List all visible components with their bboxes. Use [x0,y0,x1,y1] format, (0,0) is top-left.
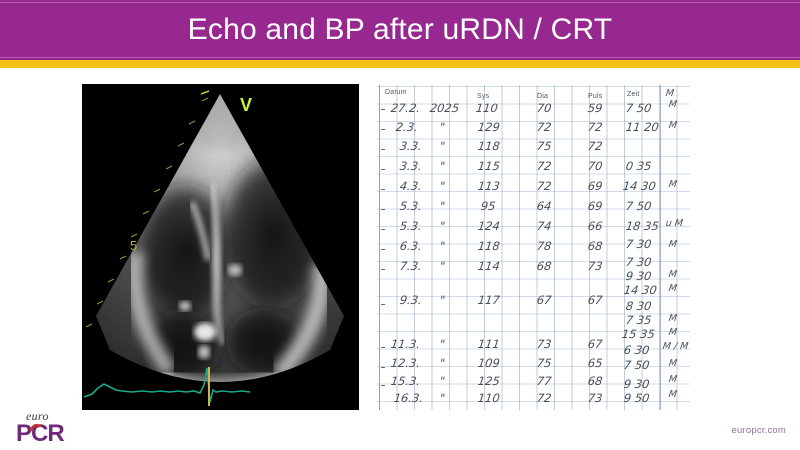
echocardiogram-image: V 5 [82,84,359,410]
table-header-puls: Puls [588,93,602,100]
cell-zeit: 7 35 [625,313,652,327]
cell-m: M / M [662,341,689,352]
handwritten-bp-table-image: Datum Sys Dia Puls Zeit M 27.2. 2025 110… [377,85,690,410]
cell-puls: 70 [587,159,603,173]
slide-title-bar: Echo and BP after uRDN / CRT [0,0,800,60]
cell-datum: 12.3. [390,356,421,370]
svg-text:PCR: PCR [16,420,64,445]
cell-m: M [668,179,678,190]
cell-m: M [668,99,678,110]
depth-scale-label: 5 [130,239,137,252]
cell-sys: 109 [477,356,501,370]
cell-puls: 67 [587,337,603,351]
cell-sys: 113 [477,179,501,193]
accent-divider-bar [0,60,800,68]
cell-zeit: 18 35 [625,219,660,233]
cell-m: M [668,374,678,385]
cell-dia: 72 [536,120,552,134]
cell-sys: 129 [477,120,501,134]
cell-dia: 67 [536,293,552,307]
cell-dia: 73 [536,337,552,351]
cell-dia: 72 [536,391,552,405]
cell-puls: 73 [587,391,603,405]
cell-puls: 67 [587,293,603,307]
cell-puls: 66 [587,219,603,233]
cell-zeit: 9 30 [625,269,652,283]
table-header-zeit: Zeit [627,91,639,98]
cell-puls: 68 [587,374,603,388]
cell-dia: 72 [536,159,552,173]
cell-puls: 73 [587,259,603,273]
cell-dia: 68 [536,259,552,273]
title-bar-top-edge [0,2,800,3]
cell-zeit: 11 20 [625,120,660,134]
cell-m: M [668,358,678,369]
cell-datum: 3.3. [399,159,423,173]
cell-zeit: 7 50 [625,199,652,213]
cell-datum: 11.3. [390,337,421,351]
cell-puls: 72 [587,139,603,153]
footer-website-url: europcr.com [732,425,786,436]
table-column-rule [379,85,380,410]
cell-dia: 75 [536,356,552,370]
cell-datum: 5.3. [399,199,423,213]
cell-sys: 117 [477,293,501,307]
cell-puls: 68 [587,239,603,253]
cell-zeit: 0 35 [625,159,652,173]
cell-dia: 75 [536,139,552,153]
logo-pcr-mark: PCR [16,420,94,445]
cell-jahr: 2025 [429,101,460,115]
cell-dia: 78 [536,239,552,253]
cell-zeit: 14 30 [623,283,658,297]
cell-zeit: 7 50 [623,358,650,372]
title-bar-bottom-edge [0,57,800,58]
cell-m: M [668,313,678,324]
table-column-rule [660,85,661,410]
cell-sys: 111 [477,337,501,351]
cell-zeit: 7 30 [625,255,652,269]
table-header-datum: Datum [385,89,407,96]
cell-zeit: 9 30 [623,377,650,391]
cell-sys: 110 [477,391,501,405]
cell-puls: 69 [587,179,603,193]
echo-sector-graphic [82,84,359,410]
cell-datum: 16.3. [393,391,424,405]
cell-zeit: 9 50 [623,391,650,405]
cell-m: M [668,327,678,338]
cell-datum: 6.3. [399,239,423,253]
cell-sys: 115 [477,159,501,173]
cell-zeit: 8 30 [625,299,652,313]
cell-puls: 59 [587,101,603,115]
cell-sys: 118 [477,139,501,153]
cell-datum: 9.3. [399,293,423,307]
cell-m: u M [665,218,684,229]
cell-m: M [668,239,678,250]
cell-datum: 3.3. [399,139,423,153]
cell-datum: 27.2. [390,101,421,115]
cell-dia: 70 [536,101,552,115]
cell-dia: 77 [536,374,552,388]
cell-sys: 124 [477,219,501,233]
cell-m: M [668,120,678,131]
cell-sys: 118 [477,239,501,253]
cell-zeit: 14 30 [622,179,657,193]
cell-sys: 110 [475,101,499,115]
cell-m: M [668,269,678,280]
cell-zeit: 7 50 [625,101,652,115]
page-title: Echo and BP after uRDN / CRT [188,15,613,45]
cell-m: M [668,283,678,294]
cell-datum: 4.3. [399,179,423,193]
cell-dia: 74 [536,219,552,233]
cell-puls: 65 [587,356,603,370]
cell-dia: 64 [536,199,552,213]
table-header-sys: Sys [477,93,489,100]
cell-m: M [668,389,678,400]
cell-sys: 125 [477,374,501,388]
cell-puls: 72 [587,120,603,134]
orientation-marker-icon: V [240,96,252,114]
table-header-dia: Dia [537,93,548,100]
cell-datum: 15.3. [390,374,421,388]
cell-dia: 72 [536,179,552,193]
table-header-m: M [665,88,675,99]
cell-puls: 69 [587,199,603,213]
cell-zeit: 7 30 [625,237,652,251]
cell-sys: 95 [480,199,496,213]
cell-zeit: 6 30 [623,343,650,357]
europcr-logo: euro PCR [16,409,94,445]
cell-sys: 114 [477,259,501,273]
cell-zeit: 15 35 [621,327,656,341]
cell-datum: 5.3. [399,219,423,233]
cell-datum: 2.3. [395,120,419,134]
cell-datum: 7.3. [399,259,423,273]
